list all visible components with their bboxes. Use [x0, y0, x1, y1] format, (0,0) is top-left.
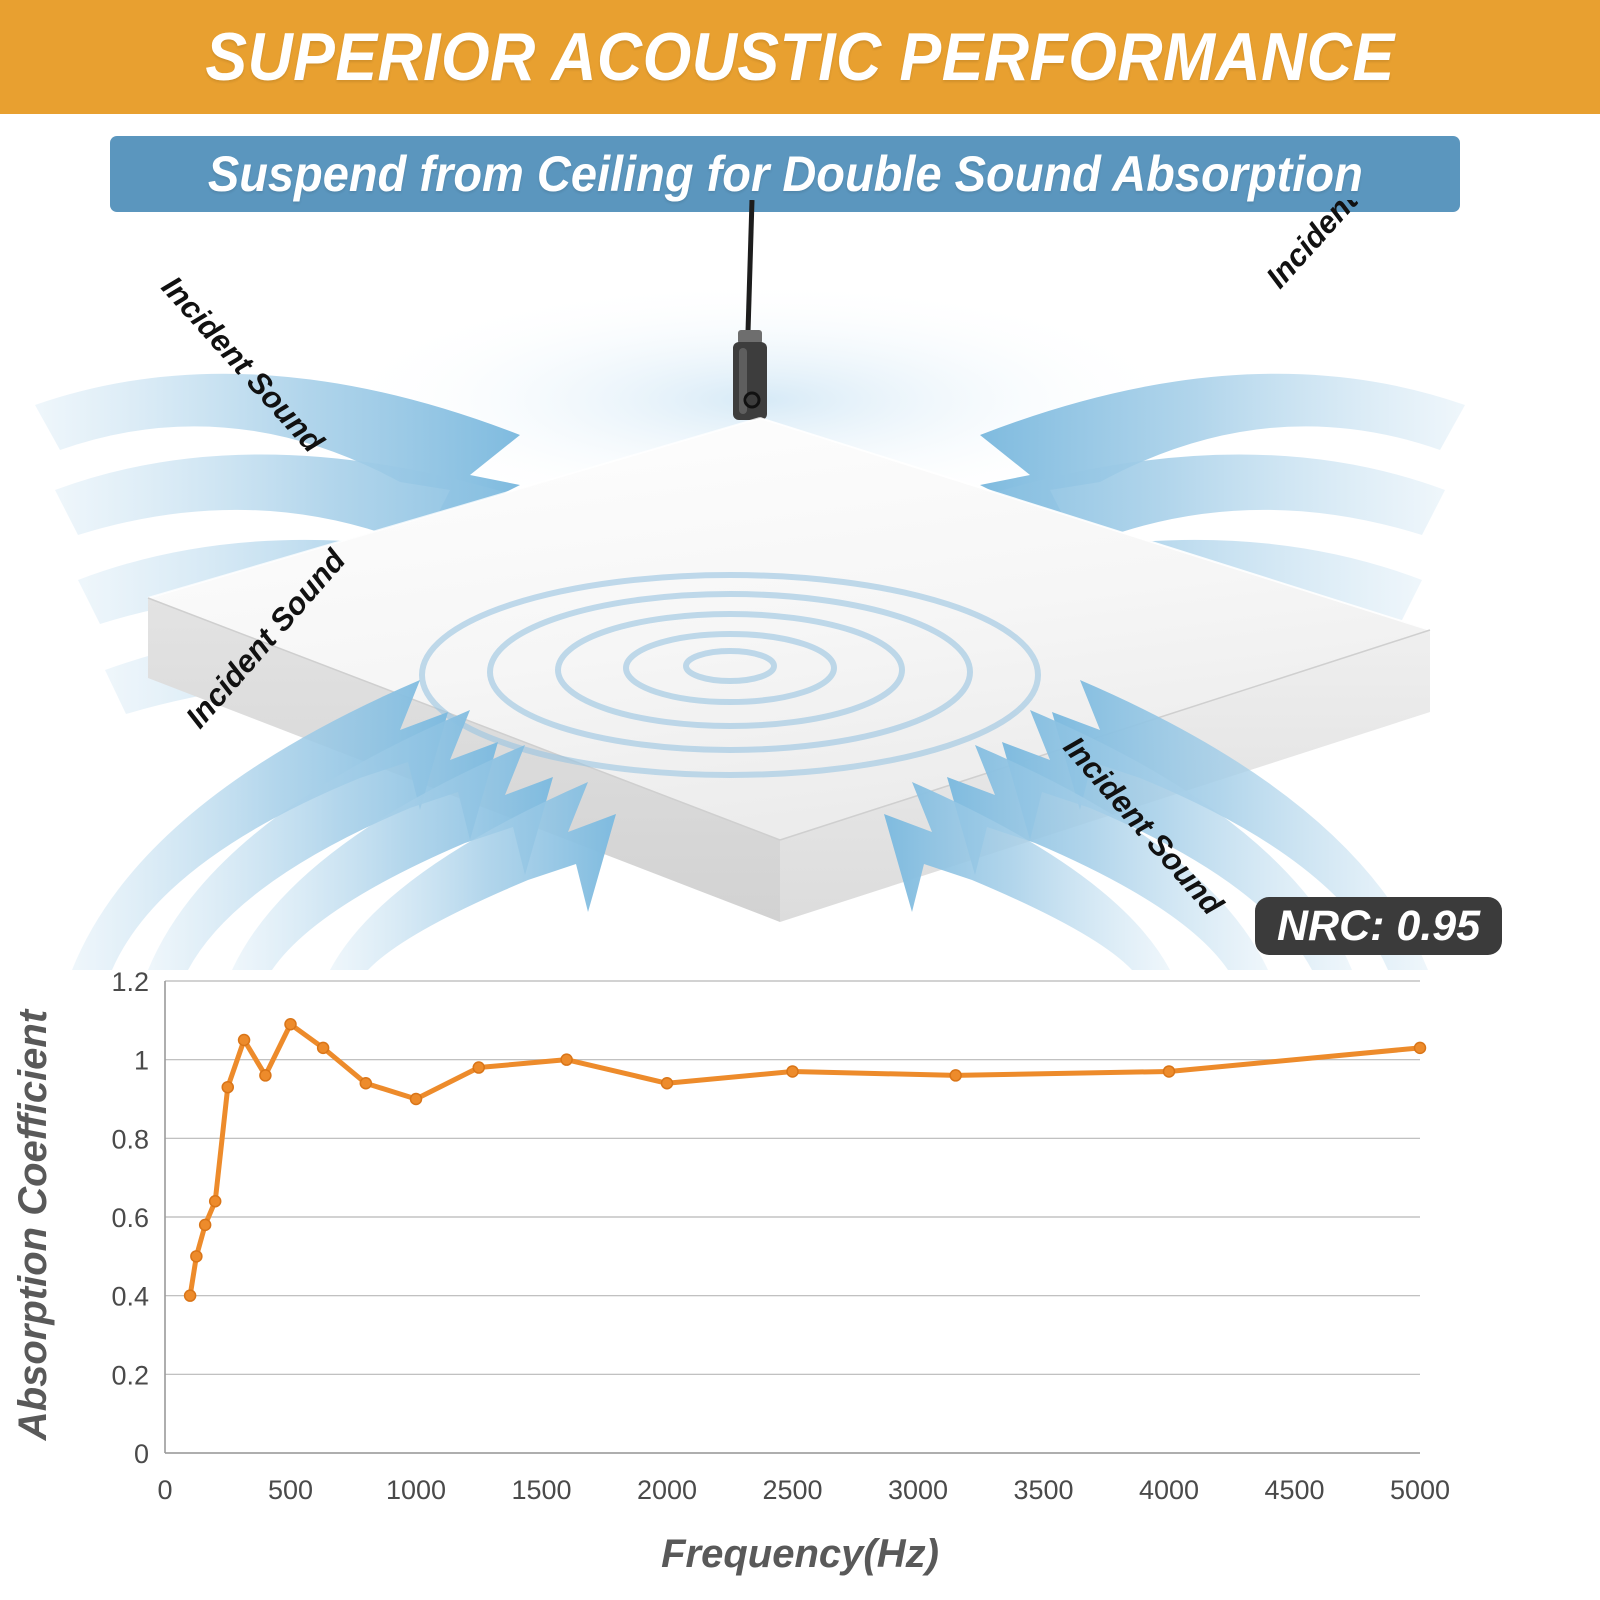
- x-tick-1: 500: [268, 1475, 313, 1505]
- nrc-badge: NRC: 0.95: [1255, 897, 1502, 955]
- absorption-chart: 00.20.40.60.811.2 0500100015002000250030…: [0, 955, 1600, 1600]
- y-tick-6: 1.2: [111, 967, 149, 997]
- x-tick-6: 3000: [888, 1475, 948, 1505]
- data-point: [1415, 1042, 1426, 1053]
- x-tick-2: 1000: [386, 1475, 446, 1505]
- x-tick-9: 4500: [1264, 1475, 1324, 1505]
- x-tick-3: 1500: [511, 1475, 571, 1505]
- data-point: [191, 1251, 202, 1262]
- data-point: [210, 1196, 221, 1207]
- data-point: [318, 1042, 329, 1053]
- data-point: [239, 1035, 250, 1046]
- chart-gridlines: [165, 981, 1420, 1453]
- series-absorption-coefficient: [190, 1024, 1420, 1295]
- x-axis-label: Frequency(Hz): [661, 1532, 939, 1576]
- product-illustration: Incident Sound Incident Sound Incident S…: [0, 200, 1600, 970]
- x-tick-10: 5000: [1390, 1475, 1450, 1505]
- data-point: [222, 1082, 233, 1093]
- data-point: [473, 1062, 484, 1073]
- incident-sound-label-upper-right: Incident Sound: [1259, 200, 1436, 295]
- data-point: [285, 1019, 296, 1030]
- data-point: [185, 1290, 196, 1301]
- x-tick-7: 3500: [1013, 1475, 1073, 1505]
- y-tick-5: 1: [134, 1046, 149, 1076]
- y-tick-3: 0.6: [111, 1203, 149, 1233]
- incident-sound-label-upper-left: Incident Sound: [155, 269, 332, 460]
- y-tick-1: 0.2: [111, 1360, 149, 1390]
- data-point: [1164, 1066, 1175, 1077]
- y-tick-4: 0.8: [111, 1124, 149, 1154]
- x-tick-8: 4000: [1139, 1475, 1199, 1505]
- x-tick-4: 2000: [637, 1475, 697, 1505]
- data-point: [411, 1094, 422, 1105]
- data-point: [561, 1054, 572, 1065]
- data-point: [360, 1078, 371, 1089]
- data-point: [662, 1078, 673, 1089]
- chart-y-tick-labels: 00.20.40.60.811.2: [111, 967, 149, 1469]
- chart-series-line: [190, 1024, 1420, 1295]
- nrc-badge-label: NRC: 0.95: [1277, 905, 1480, 948]
- data-point: [950, 1070, 961, 1081]
- chart-x-tick-labels: 0500100015002000250030003500400045005000: [157, 1475, 1450, 1505]
- data-point: [260, 1070, 271, 1081]
- y-tick-2: 0.4: [111, 1282, 149, 1312]
- subtitle-text: Suspend from Ceiling for Double Sound Ab…: [208, 145, 1363, 203]
- y-axis-label: Absorption Coefficient: [11, 1008, 55, 1441]
- chart-data-markers: [185, 1019, 1426, 1301]
- y-tick-0: 0: [134, 1439, 149, 1469]
- x-tick-0: 0: [157, 1475, 172, 1505]
- data-point: [787, 1066, 798, 1077]
- x-tick-5: 2500: [762, 1475, 822, 1505]
- page-title: SUPERIOR ACOUSTIC PERFORMANCE: [64, 0, 1536, 114]
- data-point: [200, 1219, 211, 1230]
